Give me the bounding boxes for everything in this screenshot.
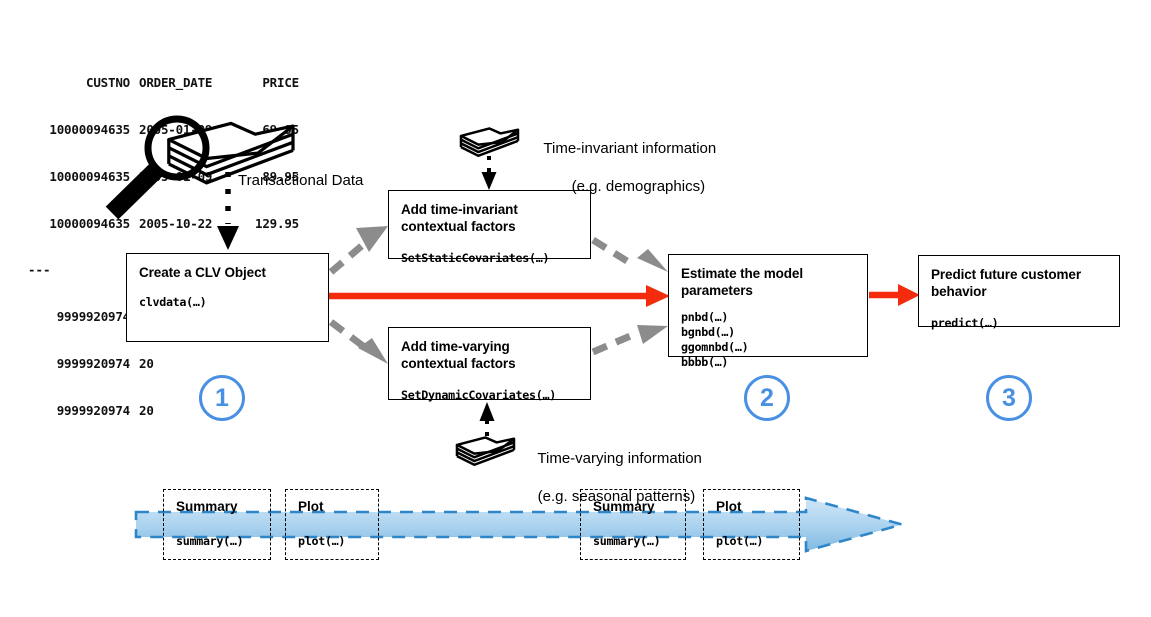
box-title-line2: behavior (931, 284, 986, 299)
cell-order-date: 2005-01-09 (130, 169, 237, 185)
column-header-custno: CUSTNO (28, 75, 130, 91)
box-predict-future-behavior[interactable]: Predict future customer behavior predict… (918, 255, 1120, 327)
function-clvdata: clvdata(…) (139, 295, 316, 310)
transaction-data-table: CUSTNOORDER_DATEPRICE 100000946352005-01… (28, 44, 299, 449)
box-title-line1: Predict future customer (931, 267, 1081, 282)
box-plot-1[interactable]: Plot plot(…) (285, 489, 379, 560)
box-functions: SetDynamicCovariates(…) (401, 388, 578, 403)
cell-custno: 10000094635 (28, 169, 130, 185)
box-title: Add time-varying contextual factors (401, 338, 578, 372)
label-transactional-data: Transactional Data (238, 171, 363, 190)
label-line1: Time-varying information (537, 450, 702, 467)
cell-custno: 9999920974 (28, 309, 130, 325)
function-predict: predict(…) (931, 316, 1107, 331)
box-title-line2: parameters (681, 283, 753, 298)
arrow-time-varying (480, 402, 495, 436)
step-number-3: 3 (986, 375, 1032, 421)
box-title: Create a CLV Object (139, 264, 316, 281)
box-summary-2[interactable]: Summary summary(…) (580, 489, 686, 560)
function-setdynamiccovariates: SetDynamicCovariates(…) (401, 388, 578, 403)
box-create-clv-object[interactable]: Create a CLV Object clvdata(…) (126, 253, 329, 342)
box-plot-2[interactable]: Plot plot(…) (703, 489, 800, 560)
box-estimate-model-parameters[interactable]: Estimate the model parameters pnbd(…) bg… (668, 254, 868, 357)
step-label: 1 (215, 386, 229, 411)
table-row: 999992097420 (28, 356, 299, 372)
step-label: 3 (1002, 386, 1016, 411)
arrow-clvdata-to-static (331, 226, 388, 272)
diagram-canvas: CUSTNOORDER_DATEPRICE 100000946352005-01… (0, 0, 1151, 617)
table-header-row: CUSTNOORDER_DATEPRICE (28, 75, 299, 91)
label-line1: Time-invariant information (543, 140, 716, 157)
table-row: 100000946352005-10-22129.95 (28, 216, 299, 232)
table-row: 999992097420 (28, 403, 299, 419)
arrow-dynamic-to-estimate (593, 325, 668, 352)
box-title-line1: Add time-invariant (401, 202, 518, 217)
cell-custno: 9999920974 (28, 356, 130, 372)
function-ggomnbd: ggomnbd(…) (681, 340, 855, 355)
cell-custno: 9999920974 (28, 403, 130, 419)
box-functions: pnbd(…) bgnbd(…) ggomnbd(…) bbbb(…) (681, 310, 855, 370)
function-summary: summary(…) (176, 534, 258, 549)
box-title: Summary (593, 499, 673, 515)
box-title-line1: Add time-varying (401, 339, 510, 354)
function-plot: plot(…) (298, 534, 366, 549)
arrow-clvdata-to-estimate-red (329, 285, 670, 307)
box-summary-1[interactable]: Summary summary(…) (163, 489, 271, 560)
function-bgnbd: bgnbd(…) (681, 325, 855, 340)
box-title: Estimate the model parameters (681, 265, 855, 299)
box-title: Plot (716, 499, 787, 515)
cell-order-date: 20 (130, 356, 237, 372)
cell-custno: 10000094635 (28, 122, 130, 138)
box-functions: clvdata(…) (139, 295, 316, 310)
arrow-estimate-to-predict-red (869, 284, 920, 306)
cell-order-date: 2005-10-22 (130, 216, 237, 232)
box-title-line2: contextual factors (401, 356, 515, 371)
paper-stack-icon-time-invariant (461, 128, 518, 155)
table-row: 100000946352005-01-0969.95 (28, 122, 299, 138)
step-label: 2 (760, 386, 774, 411)
label-time-invariant-information: Time-invariant information (e.g. demogra… (527, 120, 716, 215)
box-functions: SetStaticCovariates(…) (401, 251, 578, 266)
step-number-1: 1 (199, 375, 245, 421)
function-plot: plot(…) (716, 534, 787, 549)
box-title: Plot (298, 499, 366, 515)
cell-price: 69.95 (237, 122, 299, 138)
cell-custno: 10000094635 (28, 216, 130, 232)
cell-price: 129.95 (237, 216, 299, 232)
box-title: Predict future customer behavior (931, 266, 1107, 300)
function-bbbb: bbbb(…) (681, 355, 855, 370)
function-setstaticcovariates: SetStaticCovariates(…) (401, 251, 578, 266)
column-header-order-date: ORDER_DATE (130, 75, 237, 91)
arrow-time-invariant (482, 156, 497, 190)
cell-order-date: 2005-01-09 (130, 122, 237, 138)
step-number-2: 2 (744, 375, 790, 421)
arrow-static-to-estimate (593, 240, 668, 272)
box-functions: predict(…) (931, 316, 1107, 331)
label-line2: (e.g. demographics) (544, 177, 705, 196)
arrow-clvdata-to-dynamic (331, 322, 388, 364)
function-summary: summary(…) (593, 534, 673, 549)
box-title-line1: Estimate the model (681, 266, 803, 281)
paper-stack-icon-time-varying (457, 437, 514, 464)
function-pnbd: pnbd(…) (681, 310, 855, 325)
box-title-line2: contextual factors (401, 219, 515, 234)
box-title: Summary (176, 499, 258, 515)
box-add-time-varying-factors[interactable]: Add time-varying contextual factors SetD… (388, 327, 591, 400)
column-header-price: PRICE (237, 75, 299, 91)
